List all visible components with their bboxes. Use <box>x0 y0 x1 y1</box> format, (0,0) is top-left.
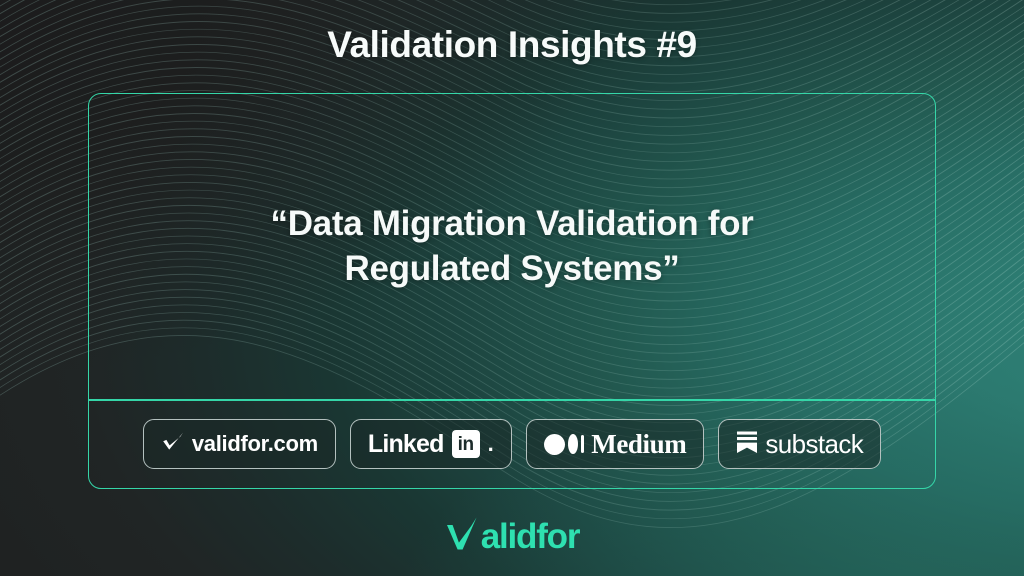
badge-label: validfor.com <box>192 431 318 457</box>
quote-card: “Data Migration Validation for Regulated… <box>88 93 936 489</box>
quote-line-2: Regulated Systems <box>345 249 663 288</box>
badge-label: Medium <box>591 429 686 460</box>
page-title: Validation Insights #9 <box>0 24 1024 66</box>
quote-close-mark: ” <box>662 249 679 288</box>
quote-line-1: Data Migration Validation for <box>288 204 754 243</box>
quote-open-mark: “ <box>271 204 288 243</box>
quote-area: “Data Migration Validation for Regulated… <box>89 94 935 399</box>
social-badge-row: validfor.com Linked in . Medium <box>89 400 935 488</box>
badge-label: substack <box>765 429 863 460</box>
footer-logo-text: alidfor <box>481 519 580 554</box>
quote-text: “Data Migration Validation for Regulated… <box>231 202 794 292</box>
badge-label: Linked <box>368 430 444 459</box>
check-icon <box>161 430 185 459</box>
linkedin-in-mark: in <box>458 435 474 454</box>
validfor-check-icon <box>445 516 479 557</box>
medium-icon <box>544 434 585 455</box>
slide-canvas: Validation Insights #9 “Data Migration V… <box>0 0 1024 576</box>
badge-linkedin[interactable]: Linked in . <box>350 419 512 469</box>
badge-validfor-com[interactable]: validfor.com <box>143 419 336 469</box>
badge-substack[interactable]: substack <box>718 419 881 469</box>
linkedin-icon: in <box>452 430 480 458</box>
footer-logo[interactable]: alidfor <box>0 516 1024 557</box>
linkedin-suffix: . <box>488 431 494 457</box>
substack-icon <box>736 429 758 459</box>
badge-medium[interactable]: Medium <box>526 419 705 469</box>
